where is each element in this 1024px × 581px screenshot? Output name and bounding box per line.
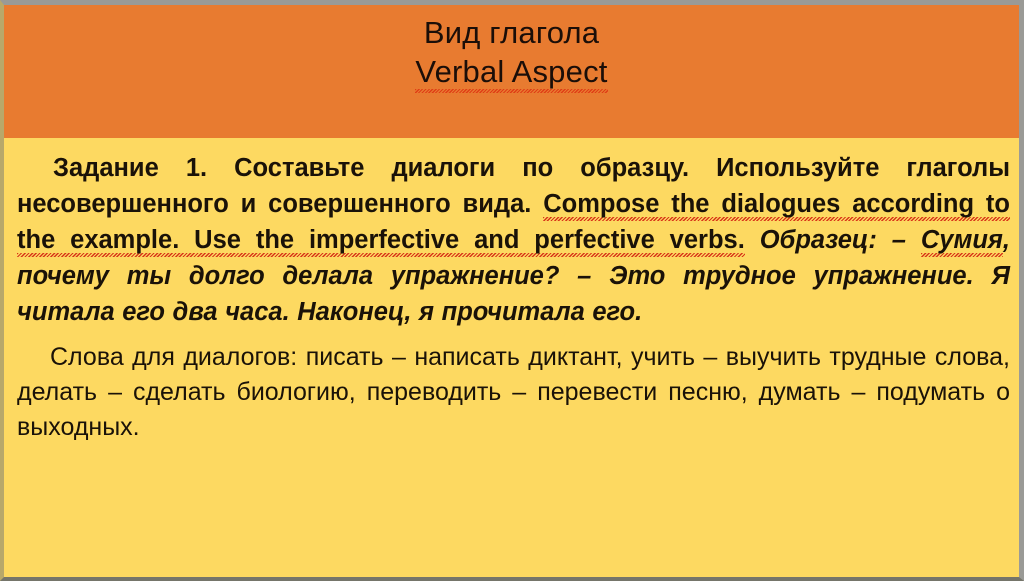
example-label: Образец: –: [745, 226, 921, 254]
slide-title-russian: Вид глагола: [4, 13, 1019, 52]
slide-header: Вид глагола Verbal Aspect: [4, 5, 1019, 138]
slide-title-english: Verbal Aspect: [415, 52, 607, 93]
slide-title-english-wrapper: Verbal Aspect: [4, 52, 1019, 93]
task-paragraph: Задание 1. Составьте диалоги по образцу.…: [17, 150, 1010, 330]
slide-container: Вид глагола Verbal Aspect Задание 1. Сос…: [0, 0, 1024, 581]
slide-body: Задание 1. Составьте диалоги по образцу.…: [4, 138, 1019, 577]
words-paragraph: Слова для диалогов: писать – написать ди…: [17, 340, 1010, 445]
words-list-text: Слова для диалогов: писать – написать ди…: [17, 343, 1010, 441]
example-name: Сумия: [921, 226, 1003, 258]
